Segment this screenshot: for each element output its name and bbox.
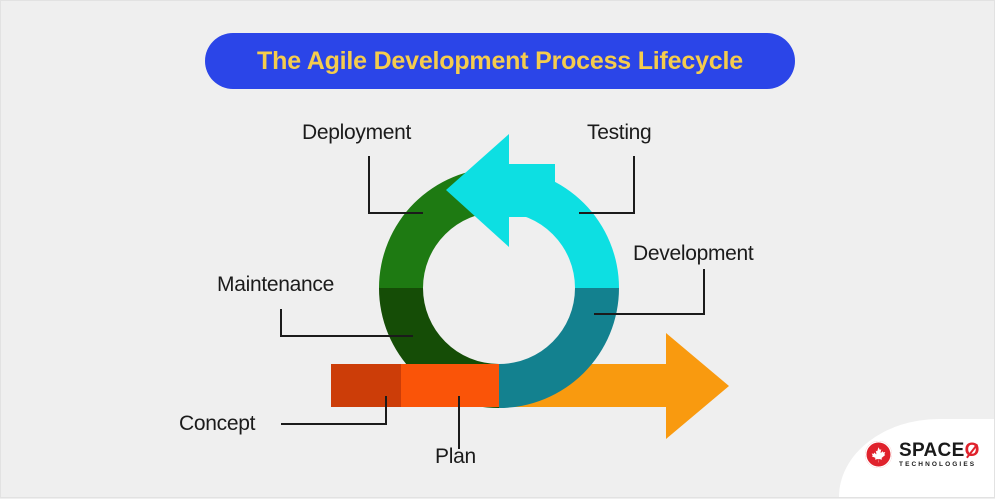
label-testing: Testing xyxy=(587,121,651,145)
stage-bar-concept xyxy=(331,364,401,407)
logo-tagline: TECHNOLOGIES xyxy=(899,462,980,469)
label-concept: Concept xyxy=(179,412,255,436)
logo-mark: O xyxy=(965,441,980,460)
label-development: Development xyxy=(633,242,753,266)
cycle-arrow-icon xyxy=(446,134,555,247)
label-deployment: Deployment xyxy=(302,121,411,145)
agile-lifecycle-diagram xyxy=(1,1,995,499)
label-maintenance: Maintenance xyxy=(217,273,334,297)
stage-bar-plan xyxy=(401,364,499,407)
maple-leaf-icon xyxy=(865,441,892,468)
label-plan: Plan xyxy=(435,445,476,469)
leader-line-testing xyxy=(579,156,634,213)
infographic-canvas: The Agile Development Process Lifecycle xyxy=(1,1,994,497)
logo-name: SPACE xyxy=(899,441,965,460)
